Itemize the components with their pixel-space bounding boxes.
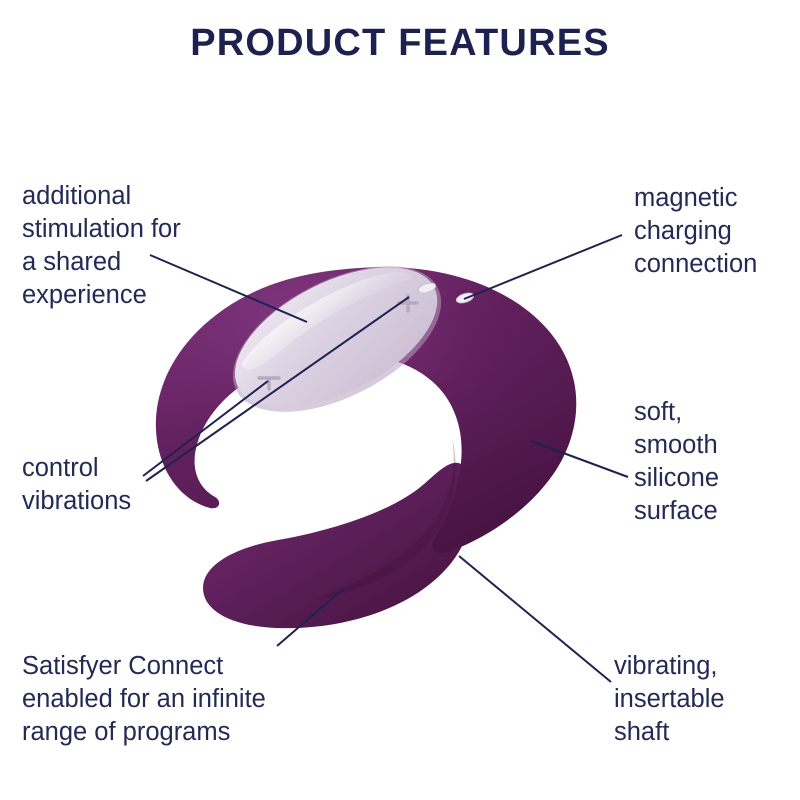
leader-magnetic-charging (464, 235, 622, 299)
label-soft-silicone: soft, smooth silicone surface (634, 396, 799, 528)
product-features-infographic: PRODUCT FEATURES (0, 0, 800, 800)
label-control-vibrations: control vibrations (22, 452, 237, 518)
leader-insertable-shaft (459, 556, 611, 682)
label-satisfyer-connect: Satisfyer Connect enabled for an infinit… (22, 650, 352, 749)
label-insertable-shaft: vibrating, insertable shaft (614, 650, 794, 749)
label-magnetic-charging: magnetic charging connection (634, 182, 800, 281)
label-additional-stimulation: additional stimulation for a shared expe… (22, 180, 252, 312)
insertable-shaft-arm (203, 463, 472, 628)
